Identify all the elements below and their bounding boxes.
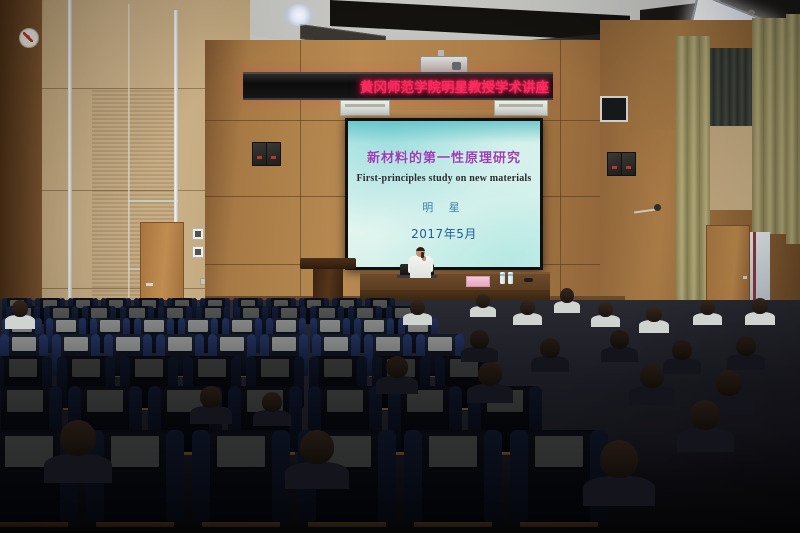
audience-head xyxy=(540,338,560,358)
wall-seam xyxy=(560,40,561,330)
audience-head xyxy=(752,298,768,314)
headrest-cover xyxy=(357,308,373,318)
audience-head xyxy=(12,300,28,317)
audience-head xyxy=(598,302,613,317)
audience-shoulders xyxy=(677,428,734,452)
headrest-cover xyxy=(429,436,476,467)
dark-window-curtain xyxy=(706,48,756,126)
headrest-cover xyxy=(428,337,451,351)
door-handle[interactable] xyxy=(743,276,747,279)
audience-head xyxy=(700,300,715,315)
audience-shoulders xyxy=(727,354,765,370)
audience-head xyxy=(646,306,662,322)
seat-side-left xyxy=(192,430,210,522)
window-curtain xyxy=(786,14,800,244)
headrest-cover xyxy=(535,436,582,467)
water-bottle xyxy=(500,272,505,284)
auditorium-seat[interactable] xyxy=(510,430,608,522)
audience-shoulders xyxy=(190,406,232,424)
window-curtain xyxy=(752,18,788,234)
right-wall-acoustic-panel xyxy=(706,125,756,210)
audience-head xyxy=(672,340,692,360)
audience-head xyxy=(690,400,720,430)
audience-head xyxy=(520,300,535,315)
wall-speaker xyxy=(607,152,622,176)
microphone-icon xyxy=(654,204,661,211)
audience-shoulders xyxy=(629,386,675,405)
led-banner-text: 黄冈师范学院明星教授学术讲座 xyxy=(360,76,549,96)
headrest-cover xyxy=(87,390,123,412)
air-conditioner-unit xyxy=(340,100,390,116)
audience-shoulders xyxy=(531,356,569,372)
headrest-cover xyxy=(276,320,295,332)
headrest-cover xyxy=(188,320,207,332)
audience-shoulders xyxy=(44,454,112,483)
desk-microphone xyxy=(524,278,533,282)
audience-shoulders xyxy=(253,410,291,426)
audience-head xyxy=(610,330,629,349)
auditorium-seat[interactable] xyxy=(404,430,502,522)
audience-shoulders xyxy=(5,315,35,329)
audience-head xyxy=(600,440,638,478)
headrest-cover xyxy=(376,337,399,351)
water-bottle xyxy=(508,272,513,284)
headrest-cover xyxy=(319,308,335,318)
headrest-cover xyxy=(72,359,100,377)
projector-lens-icon xyxy=(452,62,461,70)
wall-monitor xyxy=(600,96,628,122)
ceiling-spotlight xyxy=(284,4,314,26)
headrest-cover xyxy=(91,308,107,318)
seat-side-left xyxy=(404,430,422,522)
headrest-cover xyxy=(111,436,158,467)
door-handle[interactable] xyxy=(146,283,153,286)
headrest-cover xyxy=(53,308,69,318)
headrest-cover xyxy=(327,390,363,412)
wall-speaker xyxy=(266,142,281,166)
slide-date: 2017年5月 xyxy=(348,225,540,242)
headrest-cover xyxy=(364,320,383,332)
light-switch[interactable] xyxy=(192,246,204,258)
headrest-cover xyxy=(243,308,259,318)
audience-shoulders xyxy=(285,462,350,489)
headrest-cover xyxy=(144,320,163,332)
audience-head xyxy=(478,362,502,386)
wall-speaker xyxy=(621,152,636,176)
podium-top xyxy=(300,258,356,269)
audience-head xyxy=(640,364,664,388)
audience-head xyxy=(60,420,96,456)
auditorium-seat[interactable] xyxy=(192,430,290,522)
window-curtain xyxy=(676,36,710,334)
audience-head xyxy=(716,370,742,396)
headrest-cover xyxy=(217,436,264,467)
audience-head xyxy=(470,330,489,349)
school-emblem-mark-icon xyxy=(23,32,33,42)
audience-head xyxy=(560,288,574,303)
headrest-cover xyxy=(220,337,243,351)
headrest-cover xyxy=(205,308,221,318)
audience-shoulders xyxy=(467,384,513,403)
headrest-cover xyxy=(7,390,43,412)
headrest-cover xyxy=(272,337,295,351)
headrest-cover xyxy=(198,359,226,377)
audience-head xyxy=(476,294,490,308)
handheld-microphone-icon xyxy=(421,252,424,258)
headrest-cover xyxy=(324,359,352,377)
slide-title-chinese: 新材料的第一性原理研究 xyxy=(348,147,540,166)
audience-head xyxy=(300,430,334,464)
seat-side-left xyxy=(510,430,528,522)
audience-head xyxy=(262,392,282,412)
wall-glass-shelf xyxy=(128,200,178,202)
headrest-cover xyxy=(167,308,183,318)
headrest-cover xyxy=(232,320,251,332)
headrest-cover xyxy=(116,337,139,351)
projection-screen-frame: 新材料的第一性原理研究 First-principles study on ne… xyxy=(345,118,543,270)
air-conditioner-unit xyxy=(494,100,548,116)
audience-shoulders xyxy=(461,347,497,362)
headrest-cover xyxy=(129,308,145,318)
seat-side-right xyxy=(166,430,184,522)
headrest-cover xyxy=(135,359,163,377)
headrest-cover xyxy=(281,308,297,318)
audience-shoulders xyxy=(601,347,637,362)
auditorium-photo: 黄冈师范学院明星教授学术讲座 新材料的第一性原理研究 First-princip… xyxy=(0,0,800,533)
headrest-cover xyxy=(324,337,347,351)
slide-title-english: First-principles study on new materials xyxy=(348,173,540,184)
audience-shoulders xyxy=(663,358,701,374)
slide-author-name: 明 星 xyxy=(348,199,540,215)
audience-shoulders xyxy=(583,476,655,506)
headrest-cover xyxy=(320,320,339,332)
headrest-cover xyxy=(100,320,119,332)
slide-background-gradient xyxy=(348,121,540,143)
audience-head xyxy=(386,356,408,378)
seat-side-right xyxy=(484,430,502,522)
headrest-cover xyxy=(56,320,75,332)
audience-head xyxy=(736,336,756,356)
audience-head xyxy=(200,386,222,408)
pink-nameplate xyxy=(466,276,490,287)
presenter-torso xyxy=(410,256,431,278)
headrest-cover xyxy=(261,359,289,377)
headrest-cover xyxy=(168,337,191,351)
ceiling-downlight xyxy=(748,10,755,15)
headrest-cover xyxy=(9,359,37,377)
seat-side-right xyxy=(378,430,396,522)
led-scrolling-banner: 黄冈师范学院明星教授学术讲座 xyxy=(243,72,553,100)
headrest-cover xyxy=(64,337,87,351)
headrest-cover xyxy=(12,337,35,351)
light-switch[interactable] xyxy=(192,228,204,240)
wall-speaker xyxy=(252,142,267,166)
audience-head xyxy=(410,300,425,315)
audience-shoulders xyxy=(376,376,418,394)
projection-screen: 新材料的第一性原理研究 First-principles study on ne… xyxy=(348,121,540,267)
